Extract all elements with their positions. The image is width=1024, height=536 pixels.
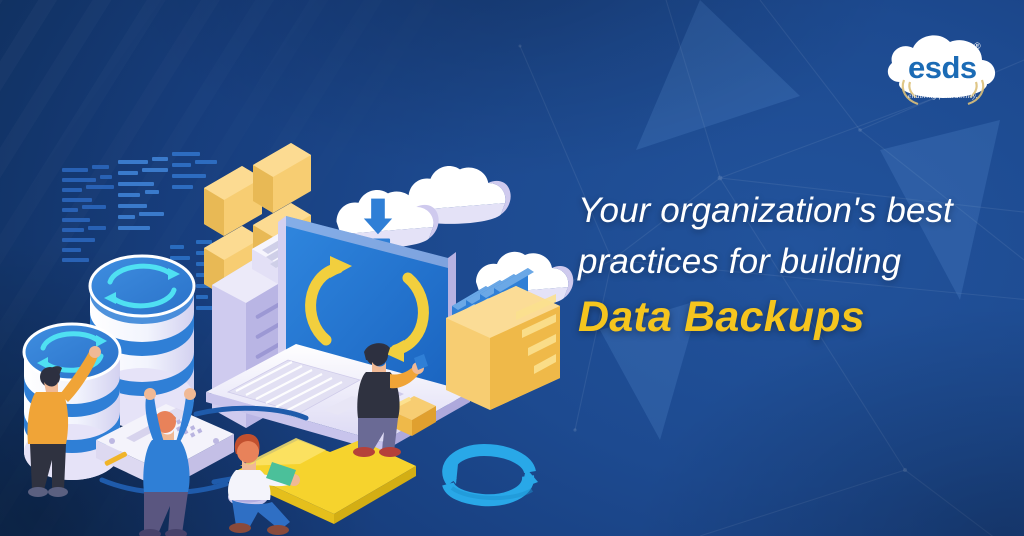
headline-line-1: Your organization's best — [578, 191, 953, 230]
trademark-symbol: ® — [974, 41, 981, 51]
headline-accent: Data Backups — [578, 289, 1008, 345]
esds-logo[interactable]: esds ® enabling futurability. — [878, 26, 1008, 118]
sync-icon-floor — [444, 450, 538, 500]
headline: Your organization's best practices for b… — [578, 185, 1008, 345]
logo-tagline: enabling futurability. — [908, 91, 978, 100]
banner-root: Your organization's best practices for b… — [0, 0, 1024, 536]
logo-wordmark: esds — [908, 50, 977, 85]
headline-line-2: practices for building — [578, 242, 901, 281]
